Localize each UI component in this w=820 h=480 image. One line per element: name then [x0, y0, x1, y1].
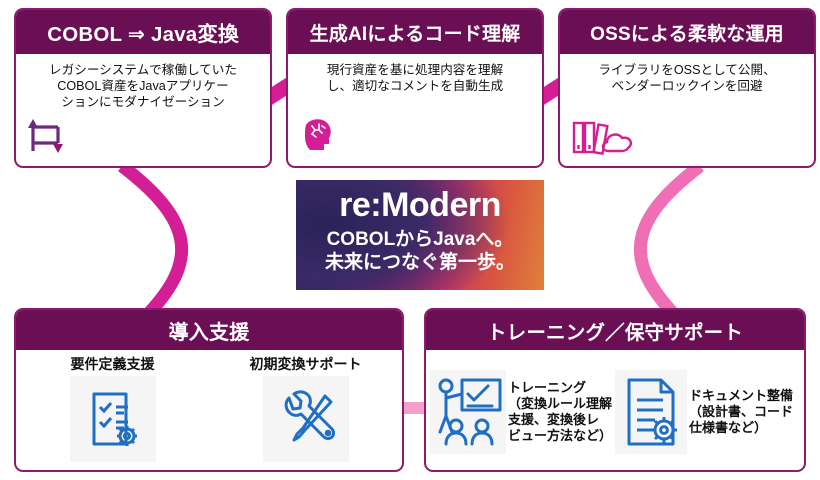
card-generative-ai-desc: 現行資産を基に処理内容を理解 し、適切なコメントを自動生成	[294, 62, 536, 94]
books-cloud-icon	[570, 113, 640, 162]
card-oss-operation-desc: ライブラリをOSSとして公開、 ベンダーロックインを回避	[566, 62, 808, 94]
intro-item-initial-conversion-caption: 初期変換サポート	[250, 354, 362, 374]
card-cobol-java-desc: レガシーシステムで稼働していた COBOL資産をJavaアプリケー ションにモダ…	[22, 62, 264, 110]
card-cobol-java[interactable]: COBOL ⇒ Java変換 レガシーシステムで稼働していた COBOL資産をJ…	[14, 8, 272, 168]
card-training-support-title: トレーニング／保守サポート	[426, 310, 804, 350]
brand-tagline: COBOLからJavaへ。 未来につなぐ第一歩。	[296, 228, 544, 274]
training-item-training-text: トレーニング （変換ルール理解 支援、変換後レ ビュー方法など）	[508, 380, 612, 443]
document-gear-icon	[615, 370, 687, 454]
intro-item-requirements: 要件定義支援	[16, 354, 209, 470]
card-generative-ai-title: 生成AIによるコード理解	[288, 10, 542, 54]
connector-card1-intro	[122, 166, 182, 312]
training-item-documentation: ドキュメント整備 （設計書、コード 仕様書など）	[615, 370, 800, 454]
card-introduction-support[interactable]: 導入支援 要件定義支援	[14, 308, 404, 472]
ai-brain-head-icon	[296, 113, 340, 162]
card-introduction-support-title: 導入支援	[16, 310, 402, 350]
card-cobol-java-body: レガシーシステムで稼働していた COBOL資産をJavaアプリケー ションにモダ…	[16, 54, 270, 166]
intro-item-initial-conversion: 初期変換サポート	[209, 354, 402, 470]
intro-item-requirements-caption: 要件定義支援	[71, 354, 155, 374]
card-oss-operation-title: OSSによる柔軟な運用	[560, 10, 814, 54]
card-generative-ai-body: 現行資産を基に処理内容を理解 し、適切なコメントを自動生成	[288, 54, 542, 166]
infographic-root: COBOL ⇒ Java変換 レガシーシステムで稼働していた COBOL資産をJ…	[0, 0, 820, 480]
card-cobol-java-title: COBOL ⇒ Java変換	[16, 10, 270, 54]
card-training-support[interactable]: トレーニング／保守サポート	[424, 308, 806, 472]
card-oss-operation-body: ライブラリをOSSとして公開、 ベンダーロックインを回避	[560, 54, 814, 166]
training-item-training: トレーニング （変換ルール理解 支援、変換後レ ビュー方法など）	[430, 370, 615, 454]
card-introduction-support-body: 要件定義支援	[16, 350, 402, 470]
card-generative-ai[interactable]: 生成AIによるコード理解 現行資産を基に処理内容を理解 し、適切なコメントを自動…	[286, 8, 544, 168]
teacher-classroom-icon	[430, 370, 506, 454]
training-item-documentation-text: ドキュメント整備 （設計書、コード 仕様書など）	[689, 388, 793, 436]
card-training-support-body: トレーニング （変換ルール理解 支援、変換後レ ビュー方法など）	[426, 350, 804, 470]
connector-card3-training	[640, 166, 700, 312]
brand-name: re:Modern	[296, 188, 544, 222]
migration-arrows-icon	[24, 113, 68, 162]
wrench-screwdriver-icon	[263, 376, 349, 462]
checklist-gear-icon	[70, 376, 156, 462]
brand-banner: re:Modern COBOLからJavaへ。 未来につなぐ第一歩。	[296, 180, 544, 290]
card-oss-operation[interactable]: OSSによる柔軟な運用 ライブラリをOSSとして公開、 ベンダーロックインを回避	[558, 8, 816, 168]
